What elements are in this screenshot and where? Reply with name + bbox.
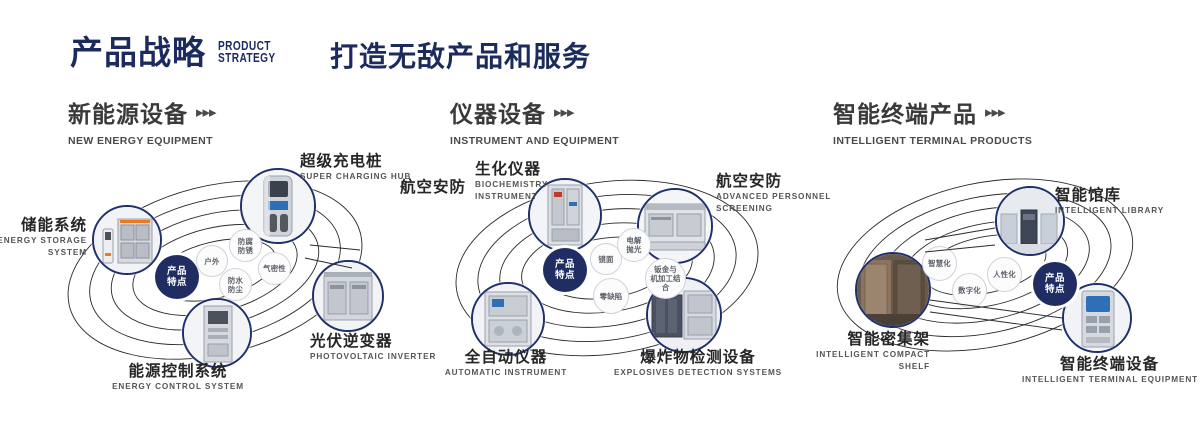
connector-lines-graphic bbox=[0, 0, 1200, 422]
poster-canvas: 产品战略 PRODUCT STRATEGY 打造无敌产品和服务 新能源设备 ▸▸… bbox=[0, 0, 1200, 422]
